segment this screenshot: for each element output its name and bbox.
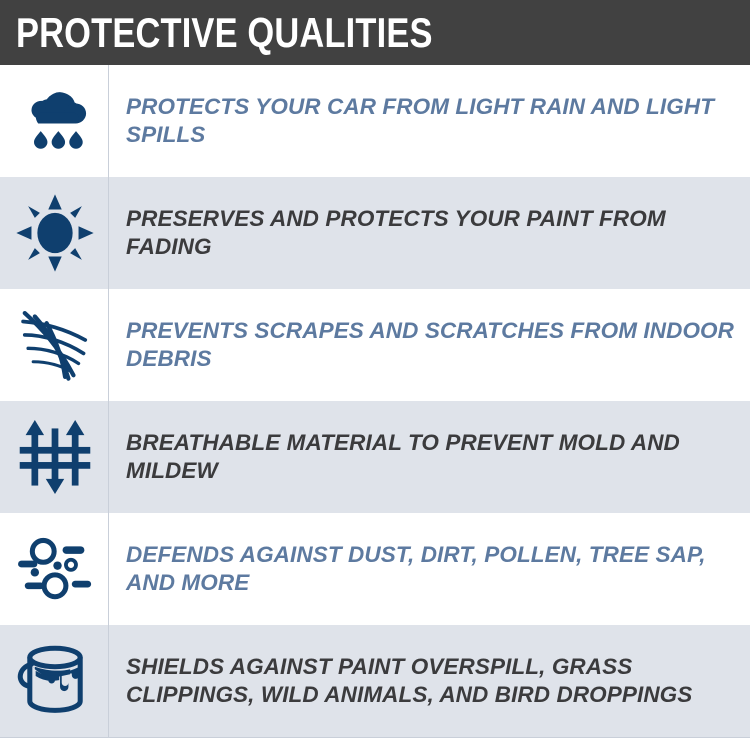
feature-row: BREATHABLE MATERIAL TO PREVENT MOLD AND … xyxy=(0,401,750,513)
dust-particles-icon xyxy=(13,527,97,611)
icon-cell xyxy=(0,289,109,401)
icon-cell xyxy=(0,513,109,625)
text-cell: PREVENTS SCRAPES AND SCRATCHES FROM INDO… xyxy=(109,289,750,401)
text-cell: SHIELDS AGAINST PAINT OVERSPILL, GRASS C… xyxy=(109,625,750,737)
text-cell: DEFENDS AGAINST DUST, DIRT, POLLEN, TREE… xyxy=(109,513,750,625)
text-cell: PRESERVES AND PROTECTS YOUR PAINT FROM F… xyxy=(109,177,750,289)
feature-row: SHIELDS AGAINST PAINT OVERSPILL, GRASS C… xyxy=(0,625,750,737)
protective-qualities-infographic: PROTECTIVE QUALITIES xyxy=(0,0,750,750)
feature-row: DEFENDS AGAINST DUST, DIRT, POLLEN, TREE… xyxy=(0,513,750,625)
sun-icon xyxy=(13,191,97,275)
feature-text: PROTECTS YOUR CAR FROM LIGHT RAIN AND LI… xyxy=(126,93,736,150)
breathable-arrows-icon xyxy=(13,415,97,499)
text-cell: PROTECTS YOUR CAR FROM LIGHT RAIN AND LI… xyxy=(109,65,750,177)
feature-text: DEFENDS AGAINST DUST, DIRT, POLLEN, TREE… xyxy=(126,541,736,598)
bottom-strip xyxy=(0,737,750,750)
text-cell: BREATHABLE MATERIAL TO PREVENT MOLD AND … xyxy=(109,401,750,513)
icon-cell xyxy=(0,65,109,177)
rain-cloud-icon xyxy=(13,79,97,163)
feature-row: PRESERVES AND PROTECTS YOUR PAINT FROM F… xyxy=(0,177,750,289)
feature-row: PROTECTS YOUR CAR FROM LIGHT RAIN AND LI… xyxy=(0,65,750,177)
icon-cell xyxy=(0,625,109,737)
feature-text: PREVENTS SCRAPES AND SCRATCHES FROM INDO… xyxy=(126,317,736,374)
feature-text: BREATHABLE MATERIAL TO PREVENT MOLD AND … xyxy=(126,429,736,486)
feature-text: SHIELDS AGAINST PAINT OVERSPILL, GRASS C… xyxy=(126,653,736,710)
header-bar: PROTECTIVE QUALITIES xyxy=(0,0,750,65)
icon-cell xyxy=(0,177,109,289)
feature-row: PREVENTS SCRAPES AND SCRATCHES FROM INDO… xyxy=(0,289,750,401)
paint-can-icon xyxy=(13,639,97,723)
icon-cell xyxy=(0,401,109,513)
feature-list: PROTECTS YOUR CAR FROM LIGHT RAIN AND LI… xyxy=(0,65,750,737)
page-title: PROTECTIVE QUALITIES xyxy=(16,12,433,54)
scratches-mesh-icon xyxy=(13,303,97,387)
feature-text: PRESERVES AND PROTECTS YOUR PAINT FROM F… xyxy=(126,205,736,262)
